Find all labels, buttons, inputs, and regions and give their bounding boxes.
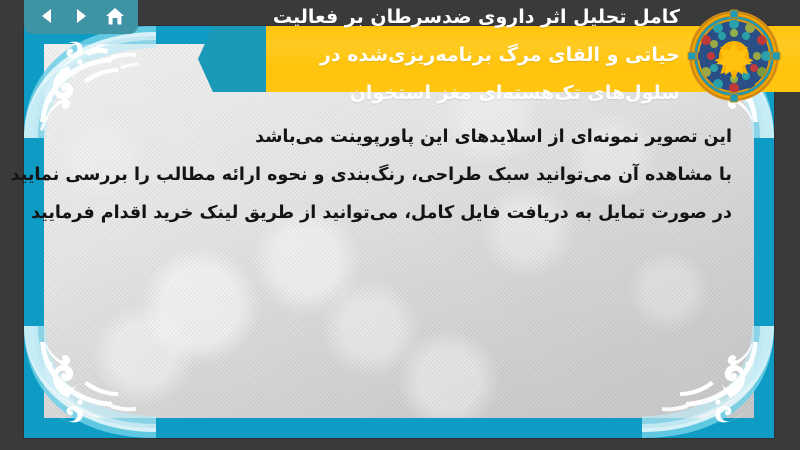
body-line-1: این تصویر نمونه‌ای از اسلایدهای این پاور… bbox=[60, 118, 732, 156]
next-arrow-icon bbox=[72, 7, 90, 25]
home-button[interactable] bbox=[102, 3, 128, 29]
previous-slide-button[interactable] bbox=[34, 3, 60, 29]
next-slide-button[interactable] bbox=[68, 3, 94, 29]
slide-body-text: این تصویر نمونه‌ای از اسلایدهای این پاور… bbox=[60, 118, 760, 232]
slide-viewer: کامل تحلیل اثر داروی ضدسرطان بر فعالیت ح… bbox=[0, 0, 800, 450]
body-line-3: در صورت تمایل به دریافت فایل کامل، می‌تو… bbox=[60, 194, 732, 232]
body-line-2: با مشاهده آن می‌توانید سبک طراحی، رنگ‌بن… bbox=[60, 156, 732, 194]
previous-arrow-icon bbox=[38, 7, 56, 25]
home-icon bbox=[105, 7, 125, 26]
banner-arrow-shape bbox=[198, 26, 266, 92]
slide-navigation-bar bbox=[24, 0, 138, 34]
persian-medallion-icon bbox=[686, 8, 782, 104]
